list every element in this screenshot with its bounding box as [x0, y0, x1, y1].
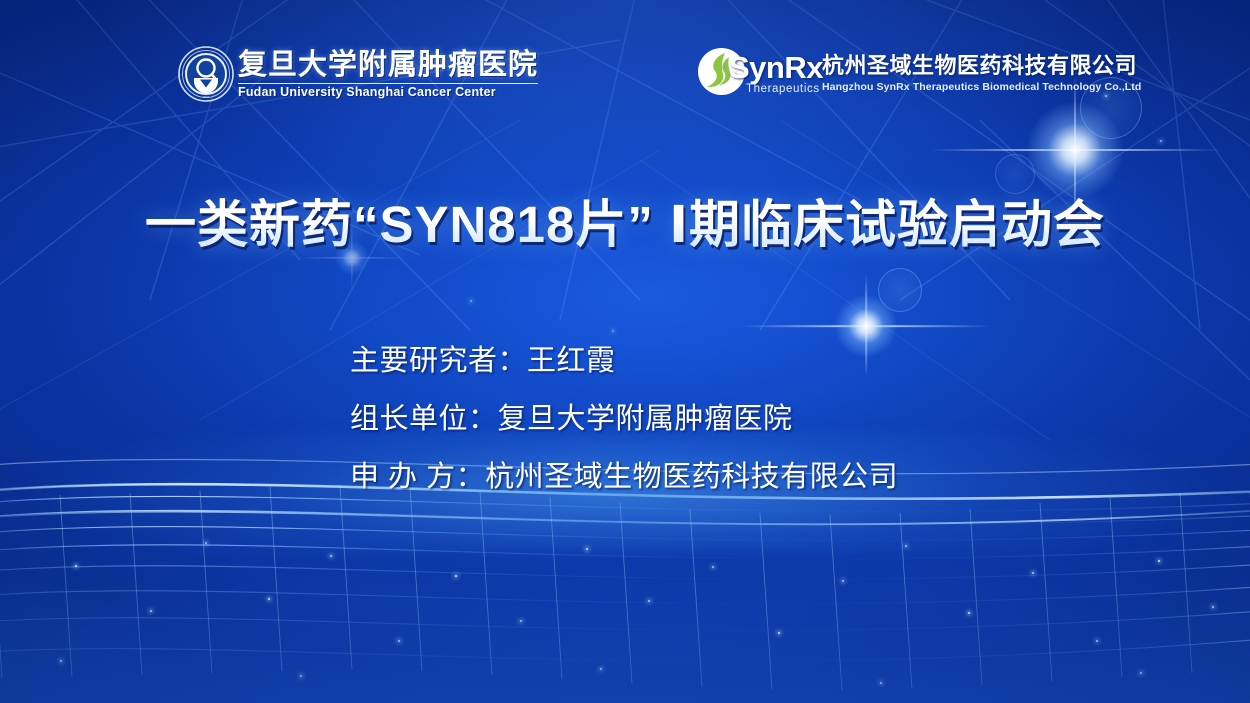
synrx-company-en: Hangzhou SynRx Therapeutics Biomedical T… — [822, 81, 1141, 94]
synrx-company-cn: 杭州圣域生物医药科技有限公司 — [822, 53, 1141, 79]
svg-text:1931: 1931 — [203, 95, 210, 99]
slide-title: 一类新药“SYN818片” Ⅰ期临床试验启动会 — [0, 192, 1250, 258]
synrx-tagline: Therapeutics — [746, 83, 820, 96]
slide-details: 主要研究者：王红霞 组长单位：复旦大学附属肿瘤医院 申 办 方：杭州圣域生物医药… — [350, 332, 898, 506]
synrx-mark-icon: SynRx Therapeutics — [698, 44, 816, 100]
detail-line-lead-institution: 组长单位：复旦大学附属肿瘤医院 — [350, 390, 898, 448]
synrx-logo: SynRx Therapeutics 杭州圣域生物医药科技有限公司 Hangzh… — [698, 44, 1141, 100]
synrx-wordmark: SynRx — [729, 52, 823, 84]
fudan-seal-icon: 1931 — [178, 46, 234, 102]
fudan-name-en: Fudan University Shanghai Cancer Center — [238, 83, 538, 100]
presentation-slide: 1931 复旦大学附属肿瘤医院 Fudan University Shangha… — [0, 0, 1250, 703]
fudan-logo: 1931 复旦大学附属肿瘤医院 Fudan University Shangha… — [178, 46, 538, 102]
detail-line-sponsor: 申 办 方：杭州圣域生物医药科技有限公司 — [350, 448, 898, 506]
fudan-name-cn: 复旦大学附属肿瘤医院 — [238, 48, 538, 82]
detail-line-principal-investigator: 主要研究者：王红霞 — [350, 332, 898, 390]
logo-row: 1931 复旦大学附属肿瘤医院 Fudan University Shangha… — [0, 44, 1250, 110]
